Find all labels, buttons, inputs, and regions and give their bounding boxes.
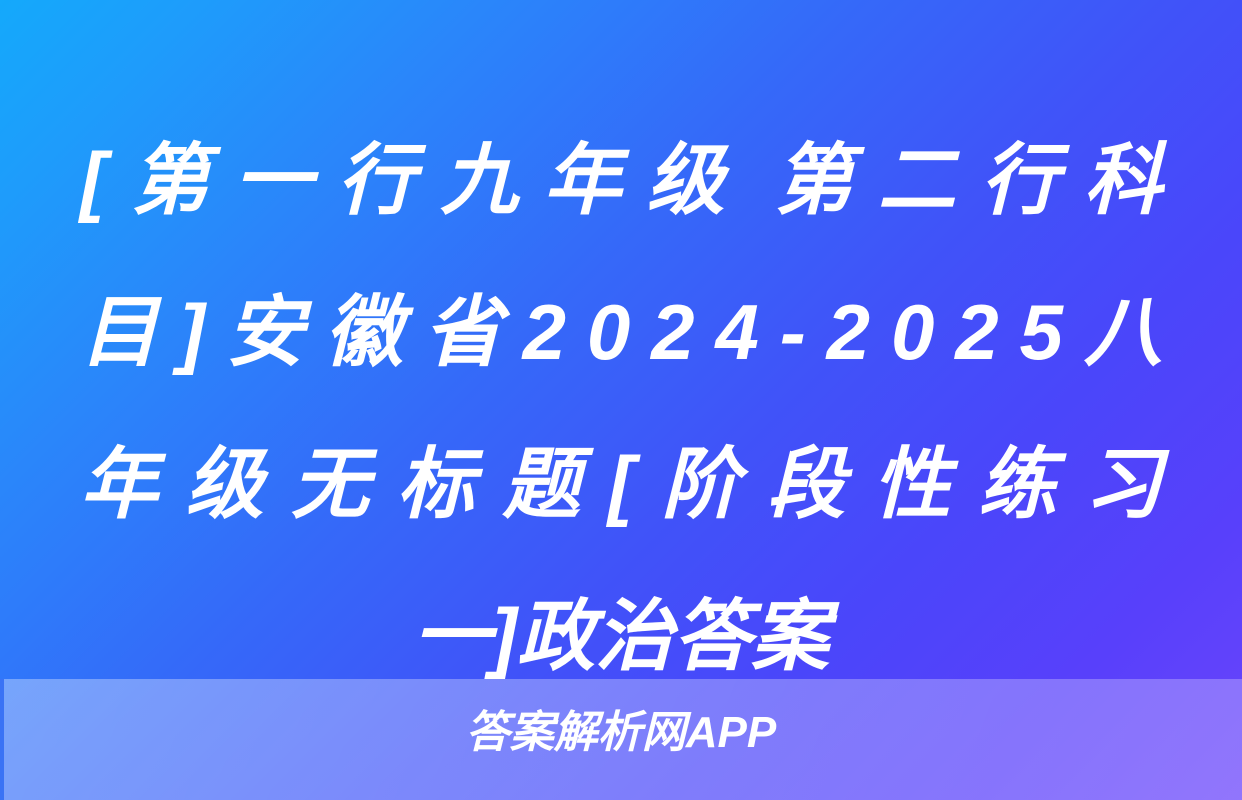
title-line-2-char: 目 [80, 256, 158, 408]
title-line-1-char: 第 [131, 104, 209, 256]
title-line-1-char: 第 [775, 104, 853, 256]
title-line-1-char: 科 [1084, 104, 1162, 256]
title-block: [ 第 一 行 九 年 级 第 二 行 科 目 ] 安 徽 省 2 0 2 4 … [80, 104, 1162, 712]
answer-card: [ 第 一 行 九 年 级 第 二 行 科 目 ] 安 徽 省 2 0 2 4 … [0, 0, 1242, 800]
title-line-2-char: 省 [424, 256, 502, 408]
title-line-3-char: 阶 [662, 408, 740, 560]
title-line-3-char: 题 [502, 408, 580, 560]
title-line-1-char: 行 [981, 104, 1059, 256]
title-line-2-char: 徽 [325, 256, 403, 408]
title-line-1-char: 年 [543, 104, 621, 256]
title-line-2: 目 ] 安 徽 省 2 0 2 4 - 2 0 2 5 八 [80, 256, 1162, 408]
title-line-3-char: 级 [186, 408, 264, 560]
title-line-2-char: 2 [523, 256, 566, 408]
title-line-2-char: 2 [651, 256, 694, 408]
title-line-2-char: 5 [1020, 256, 1063, 408]
title-line-2-char: 2 [955, 256, 998, 408]
title-line-2-char: - [780, 256, 806, 408]
title-line-1-char: [ [80, 104, 106, 256]
title-line-3-char: [ [608, 408, 634, 560]
title-line-3-char: 习 [1084, 408, 1162, 560]
title-line-3-char: 无 [291, 408, 369, 560]
watermark-app-name: 答案解析网APP [0, 705, 1242, 761]
title-line-1-char: 级 [647, 104, 725, 256]
title-line-2-char: 八 [1084, 256, 1162, 408]
title-line-2-char: 2 [827, 256, 870, 408]
title-line-3-char: 标 [397, 408, 475, 560]
title-line-3-char: 年 [80, 408, 158, 560]
title-line-2-char: ] [179, 256, 205, 408]
title-line-3-char: 性 [873, 408, 951, 560]
title-line-1-char: 一 [234, 104, 312, 256]
title-line-1: [ 第 一 行 九 年 级 第 二 行 科 [80, 104, 1162, 256]
title-line-2-char: 0 [587, 256, 630, 408]
title-line-1-char: 行 [337, 104, 415, 256]
title-line-2-char: 4 [715, 256, 758, 408]
title-line-2-char: 0 [891, 256, 934, 408]
title-line-3-char: 段 [767, 408, 845, 560]
title-line-3-char: 练 [978, 408, 1056, 560]
title-line-1-char: 九 [440, 104, 518, 256]
title-line-3: 年 级 无 标 题 [ 阶 段 性 练 习 [80, 408, 1162, 560]
title-line-1-char: 二 [878, 104, 956, 256]
title-line-2-char: 安 [226, 256, 304, 408]
